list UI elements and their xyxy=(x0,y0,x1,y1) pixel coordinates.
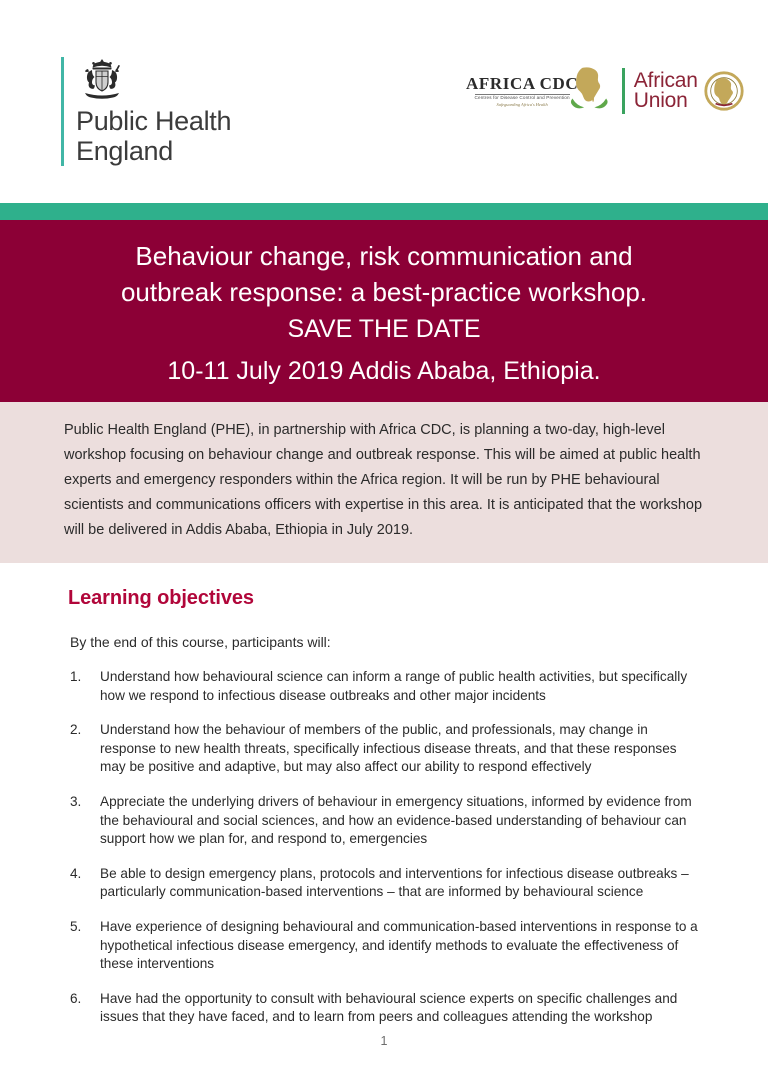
list-item-number: 1. xyxy=(68,668,100,705)
date-location-text: 10-11 July 2019 Addis Ababa, Ethiopia. xyxy=(0,354,768,388)
learning-objectives-lead: By the end of this course, participants … xyxy=(70,632,704,652)
list-item: 1. Understand how behavioural science ca… xyxy=(68,668,704,705)
list-item: 5. Have experience of designing behaviou… xyxy=(68,918,704,974)
africa-cdc-subtitle: Centres for Disease Control and Preventi… xyxy=(475,94,570,101)
royal-crest-icon xyxy=(76,57,128,103)
main-content: Learning objectives By the end of this c… xyxy=(0,563,768,1027)
africa-cdc-title: AFRICA CDC xyxy=(466,75,578,92)
africa-cdc-logo: AFRICA CDC Centres for Disease Control a… xyxy=(466,68,618,114)
learning-objectives-list: 1. Understand how behavioural science ca… xyxy=(68,668,704,1027)
list-item-number: 5. xyxy=(68,918,100,974)
list-item-text: Understand how the behaviour of members … xyxy=(100,721,704,777)
phe-teal-accent-rule xyxy=(61,57,64,166)
intro-paragraph: Public Health England (PHE), in partners… xyxy=(64,418,704,543)
list-item: 3. Appreciate the underlying drivers of … xyxy=(68,793,704,849)
learning-objectives-heading: Learning objectives xyxy=(68,587,704,610)
african-union-emblem-icon xyxy=(703,70,745,112)
list-item: 2. Understand how the behaviour of membe… xyxy=(68,721,704,777)
list-item-text: Have experience of designing behavioural… xyxy=(100,918,704,974)
list-item: 6. Have had the opportunity to consult w… xyxy=(68,990,704,1027)
list-item-text: Be able to design emergency plans, proto… xyxy=(100,865,704,902)
workshop-title: Behaviour change, risk communication and… xyxy=(0,238,768,310)
public-health-england-logo: Public Health England xyxy=(61,57,231,166)
list-item-number: 4. xyxy=(68,865,100,902)
phe-wordmark: Public Health England xyxy=(76,106,231,166)
intro-banner: Public Health England (PHE), in partners… xyxy=(0,402,768,563)
list-item-number: 2. xyxy=(68,721,100,777)
african-union-wordmark: African Union xyxy=(634,71,698,111)
list-item-text: Have had the opportunity to consult with… xyxy=(100,990,704,1027)
page-number: 1 xyxy=(0,1034,768,1048)
africa-map-icon xyxy=(568,66,612,112)
teal-divider-band xyxy=(0,203,768,220)
lockup-divider xyxy=(622,68,625,114)
list-item-number: 6. xyxy=(68,990,100,1027)
partner-logo-lockup: AFRICA CDC Centres for Disease Control a… xyxy=(466,62,745,120)
list-item-number: 3. xyxy=(68,793,100,849)
list-item-text: Appreciate the underlying drivers of beh… xyxy=(100,793,704,849)
list-item: 4. Be able to design emergency plans, pr… xyxy=(68,865,704,902)
save-the-date-text: SAVE THE DATE xyxy=(0,312,768,346)
document-header: Public Health England AFRICA CDC Centres… xyxy=(0,0,768,203)
list-item-text: Understand how behavioural science can i… xyxy=(100,668,704,705)
title-banner: Behaviour change, risk communication and… xyxy=(0,220,768,402)
africa-cdc-tagline: Safeguarding Africa's Health xyxy=(497,103,548,107)
african-union-logo: African Union xyxy=(634,70,745,112)
